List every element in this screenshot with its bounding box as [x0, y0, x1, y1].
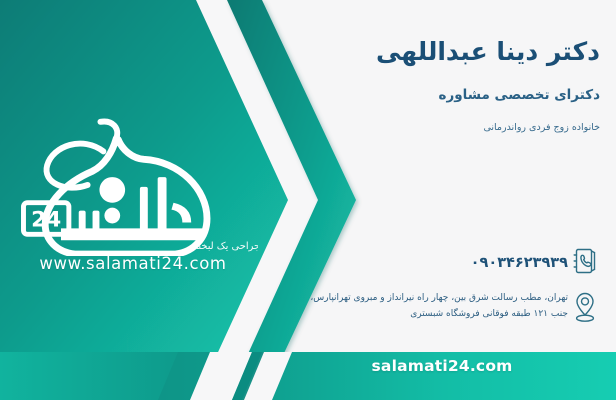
contact-row-address: تهران، مطب رسالت شرق بین، چهار راه نیران… [210, 290, 602, 324]
address-line-1: تهران، مطب رسالت شرق بین، چهار راه نیران… [216, 291, 568, 307]
contact-block: ۰۹۰۳۴۶۲۳۹۳۹ تهران، مطب رسالت شرق بین، چه… [210, 244, 602, 336]
address-text: تهران، مطب رسالت شرق بین، چهار راه نیران… [210, 291, 568, 323]
business-card: 24 جراحی یک لبخند www.salamati24.com دکت… [0, 0, 616, 400]
footer-bar [0, 352, 616, 400]
location-pin-icon [568, 290, 602, 324]
info-column: دکتر دینا عبداللهی دکترای تخصصی مشاوره خ… [240, 36, 600, 134]
contact-row-phone: ۰۹۰۳۴۶۲۳۹۳۹ [210, 244, 602, 278]
doctor-name: دکتر دینا عبداللهی [240, 36, 600, 67]
address-line-2: جنب ۱۲۱ طبقه فوقانی فروشگاه شبستری [216, 307, 568, 323]
phone-book-icon [568, 244, 602, 278]
phone-number[interactable]: ۰۹۰۳۴۶۲۳۹۳۹ [471, 255, 568, 271]
doctor-specialty: خانواده زوج فردی رواندرمانی [240, 121, 600, 134]
doctor-degree: دکترای تخصصی مشاوره [240, 87, 600, 105]
